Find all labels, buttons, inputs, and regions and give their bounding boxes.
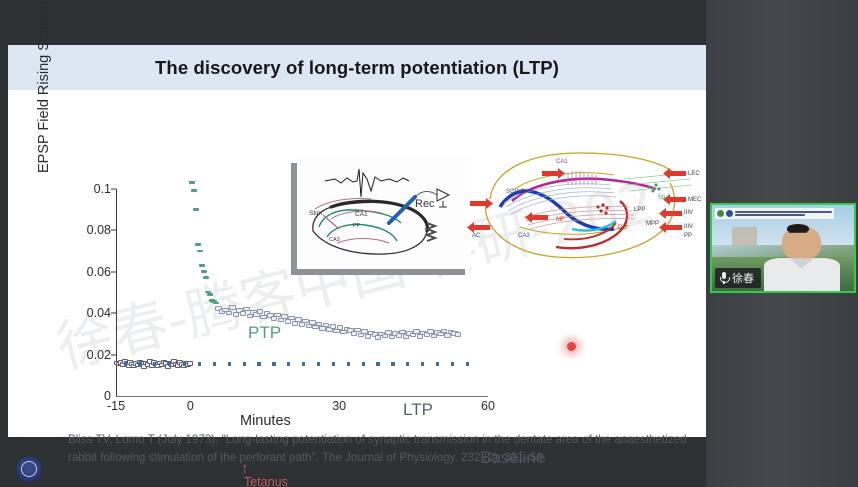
chart-data-point <box>228 362 231 365</box>
chart-y-tick-label: 0.04 <box>71 306 111 320</box>
chart-data-point <box>168 362 171 365</box>
chart-y-tick-mark <box>111 354 116 355</box>
chart-data-point <box>288 316 295 321</box>
chart-data-point <box>391 362 394 365</box>
svg-text:LPP: LPP <box>634 207 645 213</box>
participant-figure <box>769 226 849 291</box>
svg-text:SC/AC: SC/AC <box>506 189 525 195</box>
chart-data-point <box>295 317 302 322</box>
chart-y-axis-ticks: 00.020.040.060.080.1 <box>63 145 111 360</box>
chart-data-point <box>330 324 337 329</box>
banner-text-lines <box>735 211 832 216</box>
page-title: The discovery of long-term potentiation … <box>155 57 559 79</box>
svg-text:PP: PP <box>684 233 692 239</box>
chart-data-point <box>427 329 434 334</box>
chart-data-point <box>347 362 350 365</box>
svg-text:LEC: LEC <box>688 171 700 177</box>
svg-text:Rec: Rec <box>415 198 435 210</box>
annotation-ltp: LTP <box>403 400 433 420</box>
chart-y-tick-label: 0.02 <box>71 348 111 362</box>
chart-x-axis-line <box>116 396 488 397</box>
participant-glasses <box>789 232 806 236</box>
inset-card: Stim Rec CA1 PP CA3 <box>297 157 471 269</box>
chart-y-axis-label: EPSP Field Rising Slope (mV/ms) <box>36 0 52 173</box>
video-overlay-banner <box>715 208 834 219</box>
chart-data-point <box>124 362 127 365</box>
svg-text:MF: MF <box>556 217 565 223</box>
chart-y-tick-label: 0.1 <box>71 182 111 196</box>
laser-pointer-dot <box>567 342 576 351</box>
annotation-ptp: PTP <box>248 323 281 343</box>
chart-data-point <box>187 361 193 366</box>
citation-text: Bliss TV, Lomo T (July 1973). "Long-last… <box>68 431 698 467</box>
circuit-diagram-svg: CA1 CA3 DG MF SC/AC AC Sb LEC MEC IIIV I… <box>460 141 706 273</box>
microphone-icon[interactable] <box>720 272 728 284</box>
svg-text:CA3: CA3 <box>329 237 340 243</box>
chart-data-point <box>201 270 207 273</box>
chart-data-point <box>436 362 439 365</box>
banner-logo-green-icon <box>717 210 724 217</box>
svg-text:CA3: CA3 <box>518 233 530 239</box>
chart-data-point <box>317 362 320 365</box>
svg-text:CA1: CA1 <box>556 159 568 165</box>
chart-data-point <box>183 362 186 365</box>
chart-data-point <box>281 314 288 319</box>
participant-name: 徐春 <box>732 270 754 286</box>
participant-head <box>782 226 822 260</box>
chart-data-point <box>138 362 141 365</box>
chart-y-tick-mark <box>111 189 116 190</box>
svg-text:MPP: MPP <box>646 221 659 227</box>
svg-text:Sb: Sb <box>658 195 666 201</box>
chart-y-tick-label: 0 <box>71 389 111 403</box>
hippocampal-slice-recording-diagram: Stim Rec CA1 PP CA3 <box>291 157 471 275</box>
chart-data-point <box>240 311 247 316</box>
chart-data-point <box>191 189 197 192</box>
banner-logo-blue-icon <box>726 210 733 217</box>
slide-title-band: The discovery of long-term potentiation … <box>8 45 706 90</box>
institution-logo <box>16 456 42 482</box>
svg-text:CA1: CA1 <box>355 211 368 218</box>
chart-data-point <box>203 276 209 279</box>
chart-data-point <box>285 319 292 324</box>
chart-data-point <box>272 362 275 365</box>
chart-data-point <box>257 309 264 314</box>
video-building <box>732 227 758 246</box>
chart-data-point <box>213 362 216 365</box>
chart-data-point <box>229 305 236 310</box>
chart-x-tick-label: 60 <box>481 399 495 413</box>
chart-data-point <box>195 243 201 246</box>
chart-x-tick-label: 0 <box>187 399 194 413</box>
chart-data-point <box>199 264 205 267</box>
chart-data-point <box>198 362 201 365</box>
participant-name-tag: 徐春 <box>715 268 761 288</box>
chart-x-tick-label: -15 <box>107 399 125 413</box>
svg-text:PP: PP <box>353 223 361 229</box>
chart-data-point <box>354 328 361 333</box>
participant-video-tile[interactable]: 徐春 <box>710 203 856 293</box>
meeting-screen-share-view: The discovery of long-term potentiation … <box>0 0 858 487</box>
chart-data-point <box>299 322 306 327</box>
chart-data-point <box>243 362 246 365</box>
chart-y-tick-mark <box>111 230 116 231</box>
chart-data-point <box>189 181 195 184</box>
svg-text:DG: DG <box>618 225 627 231</box>
chart-x-tick-label: 30 <box>332 399 346 413</box>
slice-diagram-svg: Stim Rec CA1 PP CA3 <box>297 157 471 269</box>
chart-data-point <box>421 362 424 365</box>
chart-data-point <box>213 302 219 305</box>
chart-data-point <box>455 332 462 337</box>
hippocampal-circuit-diagram: CA1 CA3 DG MF SC/AC AC Sb LEC MEC IIIV I… <box>460 141 706 273</box>
chart-data-point <box>226 311 233 316</box>
chart-data-point <box>376 362 379 365</box>
chart-data-point <box>153 362 156 365</box>
chart-data-point <box>207 293 213 296</box>
chart-data-point <box>406 362 409 365</box>
chart-data-point <box>274 313 281 318</box>
chart-data-point <box>197 250 203 253</box>
chart-y-tick-mark <box>111 271 116 272</box>
annotation-tetanus: Tetanus <box>244 475 288 487</box>
svg-text:Stim: Stim <box>309 210 322 217</box>
svg-text:AC: AC <box>472 233 481 239</box>
chart-data-point <box>243 307 250 312</box>
chart-data-point <box>257 362 260 365</box>
svg-text:IIIV: IIIV <box>684 210 693 216</box>
chart-y-tick-label: 0.08 <box>71 223 111 237</box>
chart-data-point <box>193 208 199 211</box>
chart-data-point <box>302 362 305 365</box>
svg-text:MEC: MEC <box>688 197 702 203</box>
chart-data-point <box>287 362 290 365</box>
logo-inner-ring <box>21 461 37 477</box>
banner-line <box>735 214 805 216</box>
chart-y-tick-label: 0.06 <box>71 265 111 279</box>
chart-data-point <box>302 319 309 324</box>
chart-data-point <box>466 362 469 365</box>
svg-text:IIIV: IIIV <box>684 224 693 230</box>
chart-data-point <box>451 362 454 365</box>
chart-data-point <box>332 362 335 365</box>
presentation-slide: The discovery of long-term potentiation … <box>8 45 706 437</box>
chart-x-axis-label: Minutes <box>240 413 291 429</box>
banner-line <box>735 211 832 213</box>
chart-y-tick-mark <box>111 313 116 314</box>
chart-data-point <box>362 362 365 365</box>
